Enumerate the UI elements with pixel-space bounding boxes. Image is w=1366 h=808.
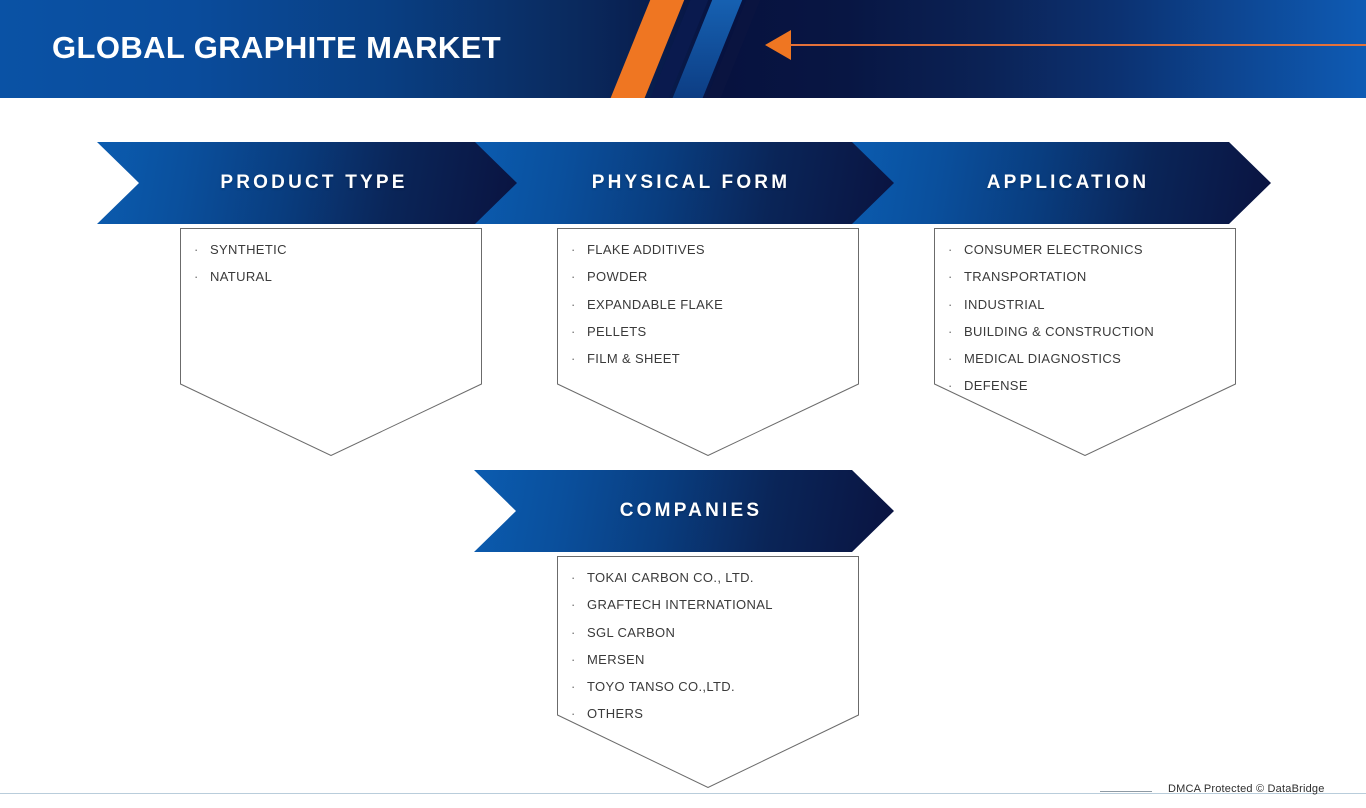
bullet-icon: · (571, 263, 587, 290)
list-item-label: NATURAL (210, 263, 272, 290)
list-item: · EXPANDABLE FLAKE (571, 291, 849, 318)
bullet-icon: · (571, 646, 587, 673)
section-label: PHYSICAL FORM (578, 172, 791, 194)
list-item: · PELLETS (571, 318, 849, 345)
list-item-label: GRAFTECH INTERNATIONAL (587, 591, 773, 618)
footer-copyright: DMCA Protected © DataBridge (1168, 783, 1325, 795)
list-item: · MERSEN (571, 646, 849, 673)
bullet-icon: · (571, 291, 587, 318)
list-item-label: MERSEN (587, 646, 645, 673)
list-item-label: PELLETS (587, 318, 647, 345)
footer-divider (0, 793, 1366, 794)
section-label: COMPANIES (606, 500, 762, 522)
section-header-companies[interactable]: COMPANIES (474, 470, 894, 552)
section-header-product-type[interactable]: PRODUCT TYPE (97, 142, 517, 224)
list-item: · MEDICAL DIAGNOSTICS (948, 345, 1226, 372)
list-item: · GRAFTECH INTERNATIONAL (571, 591, 849, 618)
bullet-icon: · (948, 372, 964, 399)
section-content-companies: · TOKAI CARBON CO., LTD. · GRAFTECH INTE… (557, 556, 859, 788)
list-item-label: TOKAI CARBON CO., LTD. (587, 564, 754, 591)
footer-tick-line (1100, 791, 1152, 792)
bullet-icon: · (571, 564, 587, 591)
bullet-icon: · (948, 345, 964, 372)
section-content-product-type: · SYNTHETIC · NATURAL (180, 228, 482, 456)
bullet-icon: · (948, 291, 964, 318)
list-item-label: TRANSPORTATION (964, 263, 1087, 290)
bullet-icon: · (571, 236, 587, 263)
list-item-label: FLAKE ADDITIVES (587, 236, 705, 263)
infographic-canvas: GLOBAL GRAPHITE MARKET PRODUCT TYPE PHYS… (0, 0, 1366, 808)
item-list: · SYNTHETIC · NATURAL (194, 236, 472, 291)
item-list: · TOKAI CARBON CO., LTD. · GRAFTECH INTE… (571, 564, 849, 728)
list-item: · OTHERS (571, 700, 849, 727)
bullet-icon: · (948, 263, 964, 290)
section-label: PRODUCT TYPE (206, 172, 407, 194)
bullet-icon: · (571, 673, 587, 700)
list-item: · TOYO TANSO CO.,LTD. (571, 673, 849, 700)
list-item: · FILM & SHEET (571, 345, 849, 372)
item-list: · CONSUMER ELECTRONICS · TRANSPORTATION … (948, 236, 1226, 400)
list-item: · BUILDING & CONSTRUCTION (948, 318, 1226, 345)
left-arrow-icon (765, 30, 791, 60)
list-item: · FLAKE ADDITIVES (571, 236, 849, 263)
list-item-label: BUILDING & CONSTRUCTION (964, 318, 1154, 345)
bullet-icon: · (948, 318, 964, 345)
list-item-label: DEFENSE (964, 372, 1028, 399)
bullet-icon: · (571, 345, 587, 372)
list-item: · POWDER (571, 263, 849, 290)
list-item: · DEFENSE (948, 372, 1226, 399)
list-item: · SGL CARBON (571, 619, 849, 646)
page-title: GLOBAL GRAPHITE MARKET (52, 30, 501, 66)
bullet-icon: · (571, 700, 587, 727)
list-item-label: TOYO TANSO CO.,LTD. (587, 673, 735, 700)
section-content-physical-form: · FLAKE ADDITIVES · POWDER · EXPANDABLE … (557, 228, 859, 456)
bullet-icon: · (571, 318, 587, 345)
list-item: · INDUSTRIAL (948, 291, 1226, 318)
section-header-physical-form[interactable]: PHYSICAL FORM (474, 142, 894, 224)
section-label: APPLICATION (973, 172, 1150, 194)
list-item: · SYNTHETIC (194, 236, 472, 263)
list-item-label: EXPANDABLE FLAKE (587, 291, 723, 318)
list-item-label: SYNTHETIC (210, 236, 287, 263)
list-item-label: CONSUMER ELECTRONICS (964, 236, 1143, 263)
list-item-label: SGL CARBON (587, 619, 675, 646)
section-header-application[interactable]: APPLICATION (851, 142, 1271, 224)
list-item: · NATURAL (194, 263, 472, 290)
bullet-icon: · (948, 236, 964, 263)
list-item: · CONSUMER ELECTRONICS (948, 236, 1226, 263)
list-item-label: POWDER (587, 263, 648, 290)
bullet-icon: · (571, 619, 587, 646)
list-item-label: OTHERS (587, 700, 643, 727)
list-item: · TRANSPORTATION (948, 263, 1226, 290)
bullet-icon: · (571, 591, 587, 618)
list-item-label: MEDICAL DIAGNOSTICS (964, 345, 1121, 372)
arrow-rule (791, 44, 1366, 46)
section-content-application: · CONSUMER ELECTRONICS · TRANSPORTATION … (934, 228, 1236, 456)
list-item: · TOKAI CARBON CO., LTD. (571, 564, 849, 591)
list-item-label: INDUSTRIAL (964, 291, 1045, 318)
bullet-icon: · (194, 236, 210, 263)
bullet-icon: · (194, 263, 210, 290)
item-list: · FLAKE ADDITIVES · POWDER · EXPANDABLE … (571, 236, 849, 372)
list-item-label: FILM & SHEET (587, 345, 680, 372)
header-banner: GLOBAL GRAPHITE MARKET (0, 0, 1366, 98)
